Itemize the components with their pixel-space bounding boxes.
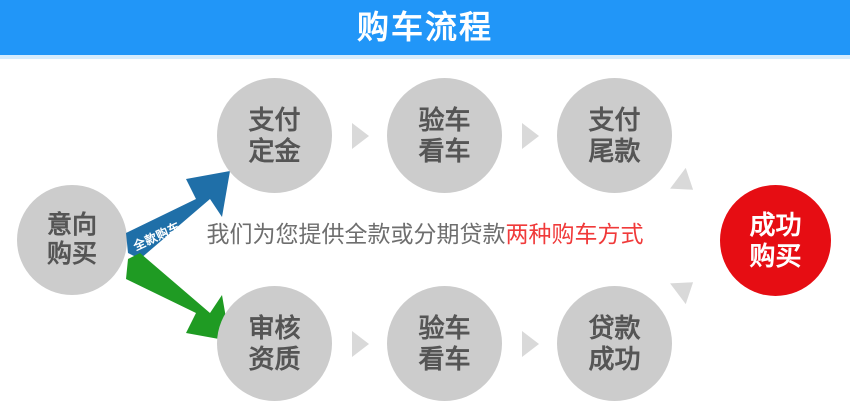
- connector-triangle-diagonal-icon: [670, 168, 701, 200]
- node-line-2: 看车: [418, 136, 470, 166]
- flow-node-inspect-car-bottom: 验车 看车: [387, 286, 502, 401]
- caption-accent-text: 两种购车方式: [506, 221, 644, 247]
- connector-triangle-icon: [522, 123, 539, 149]
- flow-caption: 我们为您提供全款或分期贷款两种购车方式: [0, 219, 850, 249]
- flow-node-inspect-car-top: 验车 看车: [387, 78, 502, 193]
- connector-triangle-diagonal-icon: [670, 272, 701, 304]
- flow-node-pay-balance: 支付 尾款: [557, 78, 672, 193]
- node-line-2: 成功: [588, 344, 640, 374]
- node-line-1: 验车: [418, 313, 470, 343]
- node-line-1: 支付: [588, 105, 640, 135]
- node-line-2: 资质: [248, 344, 300, 374]
- node-line-1: 支付: [248, 105, 300, 135]
- header-bar: 购车流程: [0, 0, 850, 55]
- caption-main-text: 我们为您提供全款或分期贷款: [207, 221, 506, 247]
- purchase-flow-infographic: 购车流程 意向 购买 全款购车 分期购车 支付 定金 验: [0, 0, 850, 407]
- node-line-2: 定金: [248, 136, 300, 166]
- connector-triangle-icon: [522, 331, 539, 357]
- node-line-2: 看车: [418, 344, 470, 374]
- flow-node-verify-qualification: 审核 资质: [217, 286, 332, 401]
- flow-node-loan-approved: 贷款 成功: [557, 286, 672, 401]
- node-line-1: 贷款: [588, 313, 640, 343]
- node-line-1: 验车: [418, 105, 470, 135]
- node-line-2: 尾款: [588, 136, 640, 166]
- flow-diagram: 意向 购买 全款购车 分期购车 支付 定金 验车 看车 支付: [0, 59, 850, 407]
- node-line-1: 审核: [248, 313, 300, 343]
- page-title: 购车流程: [0, 0, 850, 55]
- flow-node-pay-deposit: 支付 定金: [217, 78, 332, 193]
- connector-triangle-icon: [352, 331, 369, 357]
- connector-triangle-icon: [352, 123, 369, 149]
